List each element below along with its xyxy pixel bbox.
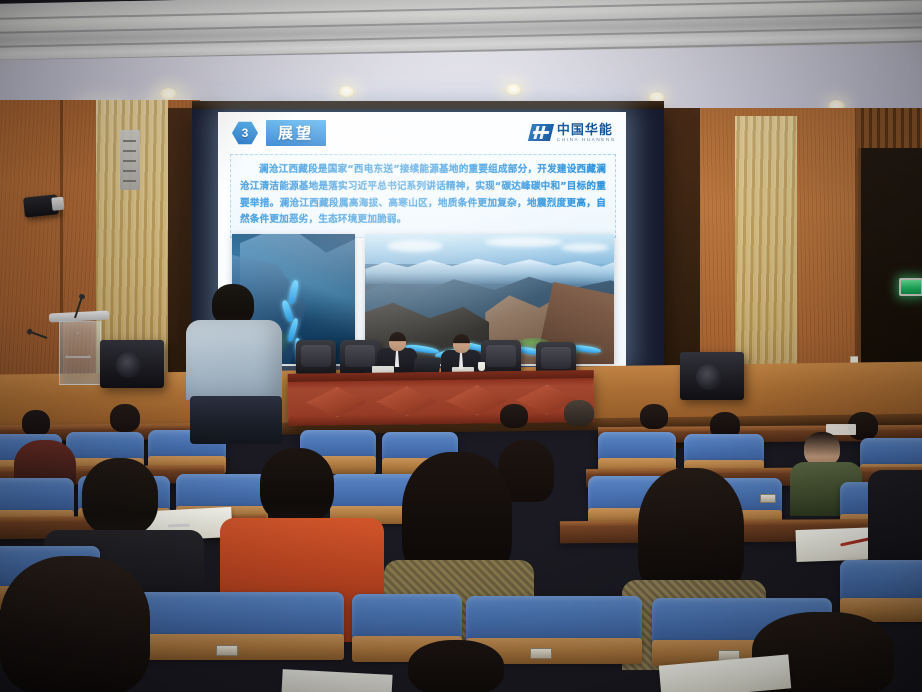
audience-seat [352,594,462,642]
audience-seat [66,432,144,462]
brand-name-en: CHINA HUANENG [557,138,616,143]
conference-hall-photo: 3 展望 中国华能 CHINA HUANENG 澜沧江西藏段是国家“西电东送”接… [0,0,922,692]
table-diamond-inlay [306,387,368,418]
seat-number-plate [760,494,776,503]
cup-icon [478,362,485,371]
brand-name-cn: 中国华能 [557,123,616,136]
audience-seat [124,592,344,640]
exit-sign-icon [899,278,922,296]
stage-chair [481,340,521,374]
section-title: 展望 [266,120,326,146]
audience-seat [598,432,676,462]
downlight-icon [160,88,177,100]
seat-number-plate [530,648,552,659]
audience-seat [176,474,268,510]
downlight-icon [505,84,522,96]
huaneng-mark-icon [528,124,554,141]
slide-body-text: 澜沧江西藏段是国家“西电东送”接续能源基地的重要组成部分，开发建设西藏澜沧江清洁… [240,162,606,229]
seat-number-plate [216,645,238,656]
audience-seat [840,560,922,604]
slide-body-box: 澜沧江西藏段是国家“西电东送”接续能源基地的重要组成部分，开发建设西藏澜沧江清洁… [230,154,616,238]
audience-seat [0,478,74,514]
section-number-badge: 3 [232,121,258,145]
huaneng-logo: 中国华能 CHINA HUANENG [530,123,616,143]
wall-speaker-icon [23,194,59,217]
table-diamond-inlay [446,385,508,416]
curtain-tag [120,130,140,190]
audience-seat [466,596,642,644]
lectern [56,312,102,386]
head-table [288,370,595,426]
audience-seat [860,438,922,468]
floor-subwoofer-left [100,340,164,388]
slide-header: 3 展望 [232,120,326,146]
table-diamond-inlay [376,386,438,417]
downlight-icon [338,86,355,98]
audience-seat [684,434,764,464]
floor-subwoofer-right [680,352,744,400]
document-paper [281,669,392,692]
stage-chair [296,340,336,374]
